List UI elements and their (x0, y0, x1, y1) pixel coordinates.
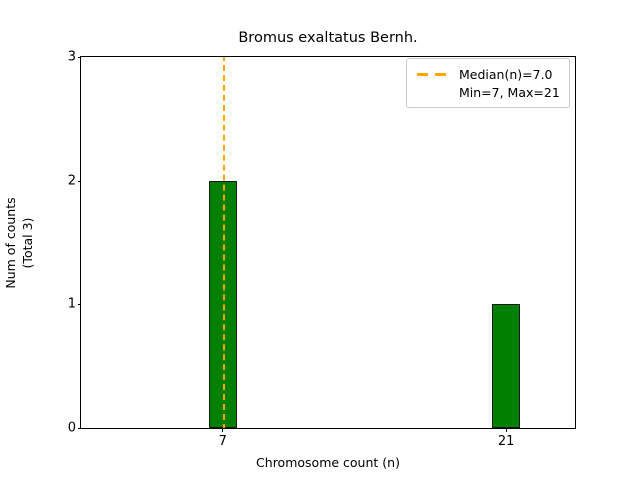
x-tick-mark (222, 428, 223, 432)
median-line (223, 57, 225, 428)
chart-figure: Bromus exaltatus Bernh. Num of counts (T… (0, 0, 640, 480)
y-tick-mark (78, 304, 82, 305)
plot-inner (81, 57, 575, 428)
x-tick-label: 21 (498, 434, 515, 449)
legend-entry-median: Median(n)=7.0 (416, 65, 560, 83)
legend-label-minmax: Min=7, Max=21 (459, 85, 560, 100)
y-axis-label-line2: (Total 3) (20, 197, 37, 288)
y-tick-mark (78, 57, 82, 58)
y-tick-label: 0 (68, 421, 76, 436)
plot-area: 0123721 (80, 56, 576, 429)
legend-label-median: Median(n)=7.0 (459, 67, 553, 82)
x-axis-label: Chromosome count (n) (80, 455, 576, 470)
legend-entry-minmax: Min=7, Max=21 (416, 83, 560, 101)
dashed-line-icon (416, 68, 450, 80)
y-tick-label: 2 (68, 173, 76, 188)
empty-handle-icon (416, 86, 450, 98)
y-axis-label-line1: Num of counts (3, 197, 18, 288)
x-tick-mark (506, 428, 507, 432)
y-tick-label: 3 (68, 50, 76, 65)
y-axis-label-container: Num of counts (Total 3) (0, 56, 40, 429)
x-tick-label: 7 (219, 434, 227, 449)
y-tick-label: 1 (68, 297, 76, 312)
chart-title: Bromus exaltatus Bernh. (80, 30, 576, 47)
y-tick-mark (78, 428, 82, 429)
y-axis-label: Num of counts (Total 3) (3, 197, 37, 288)
chart-legend: Median(n)=7.0 Min=7, Max=21 (406, 58, 570, 108)
bar (492, 304, 520, 428)
y-tick-mark (78, 181, 82, 182)
